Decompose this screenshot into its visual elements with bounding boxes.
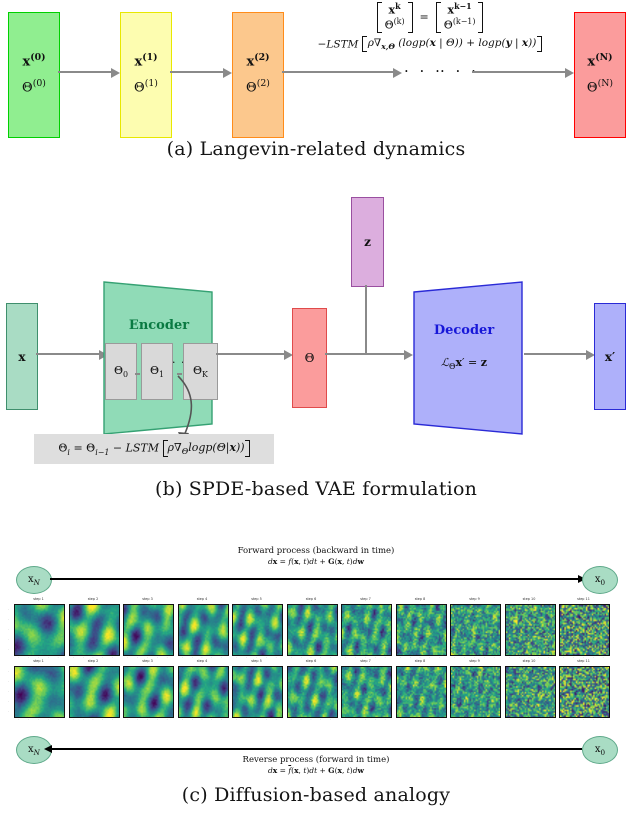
arrow-0-1-head xyxy=(111,68,120,78)
caption-panel-b: (b) SPDE-based VAE formulation xyxy=(0,478,632,500)
heatmap-x-ticks: ····· xyxy=(287,717,336,721)
vae-latent-z-box: z xyxy=(351,197,384,287)
forward-end-node: x0 xyxy=(582,566,618,594)
state-box-0: x(0) Θ(0) xyxy=(8,12,60,138)
arrow-input-encoder xyxy=(36,353,104,355)
heatmap-title: step 6 xyxy=(287,659,336,663)
heatmap-title: step 11 xyxy=(559,659,608,663)
arrow-theta0-theta1 xyxy=(135,373,140,375)
heatmap-title: step 3 xyxy=(123,659,172,663)
heatmap-x-ticks: ····· xyxy=(69,717,118,721)
vae-output-box: x′ xyxy=(594,303,626,410)
caption-panel-c: (c) Diffusion-based analogy xyxy=(0,784,632,806)
equation-matrix-line: xk Θ(k) = xk−1 Θ(k−1) xyxy=(290,2,570,33)
forward-process-labels: Forward process (backward in time) dx = … xyxy=(0,546,632,566)
heatmap-canvas xyxy=(396,666,447,718)
heatmap-title: step 2 xyxy=(69,597,118,601)
theta-cell-0-label: Θ0 xyxy=(114,364,128,379)
state-box-2-theta: Θ(2) xyxy=(246,75,270,101)
heatmap-cell: step 2····· xyxy=(69,666,118,716)
heatmap-cell: step 6····· xyxy=(287,604,336,654)
forward-start-node-label: xN xyxy=(28,574,40,587)
heatmap-cell: step 4····· xyxy=(178,666,227,716)
state-box-N-theta: Θ(N) xyxy=(587,75,613,101)
forward-process-equation: dx = f(x, t)dt + G(x, t)dw xyxy=(0,557,632,566)
heatmap-title: step 7 xyxy=(341,659,390,663)
heatmap-cell: step 4····· xyxy=(178,604,227,654)
caption-panel-a: (a) Langevin-related dynamics xyxy=(0,138,632,160)
arrow-2-mid-head xyxy=(393,68,402,78)
heatmap-cell: step 9····· xyxy=(450,666,499,716)
state-box-0-x: x(0) xyxy=(22,49,45,75)
state-box-1-x: x(1) xyxy=(134,49,157,75)
heatmap-canvas xyxy=(287,666,338,718)
heatmap-canvas xyxy=(232,666,283,718)
reverse-process-labels: Reverse process (forward in time) dx = f… xyxy=(0,755,632,775)
lstm-prefix: −LSTM xyxy=(318,38,359,50)
heatmap-title: step 4 xyxy=(178,597,227,601)
forward-process-arrow xyxy=(50,578,580,580)
heatmap-title: step 8 xyxy=(396,597,445,601)
heatmap-cell: step 5····· xyxy=(232,604,281,654)
heatmap-cell: step 8····· xyxy=(396,666,445,716)
heatmap-x-ticks: ····· xyxy=(396,717,445,721)
heatmap-title: step 10 xyxy=(505,597,554,601)
reverse-process-arrow xyxy=(52,748,582,750)
arrow-decoder-output xyxy=(524,353,590,355)
heatmap-cell: step 1·········· xyxy=(14,604,63,654)
decoder-sublabel: ℒΘx′ = z xyxy=(408,356,520,371)
state-box-2-x: x(2) xyxy=(246,49,269,75)
equals-sign: = xyxy=(416,10,432,23)
heatmap-x-ticks: ····· xyxy=(450,717,499,721)
arrow-mid-N-head xyxy=(565,68,574,78)
heatmap-cell: step 1·········· xyxy=(14,666,63,716)
heatmap-cell: step 11····· xyxy=(559,604,608,654)
heatmap-cell: step 7····· xyxy=(341,604,390,654)
heatmap-x-ticks: ····· xyxy=(123,717,172,721)
arrow-1-2-head xyxy=(223,68,232,78)
heatmap-title: step 9 xyxy=(450,659,499,663)
lhs-theta: Θ(k) xyxy=(382,17,408,32)
lhs-x: xk xyxy=(382,2,408,17)
heatmap-y-ticks: ····· xyxy=(8,666,9,716)
heatmap-canvas xyxy=(123,666,174,718)
lhs-matrix: xk Θ(k) xyxy=(377,2,413,33)
forward-process-title: Forward process (backward in time) xyxy=(0,546,632,556)
heatmap-cell: step 2····· xyxy=(69,604,118,654)
langevin-update-equation: xk Θ(k) = xk−1 Θ(k−1) −LSTM ρ∇x,Θ (logp(… xyxy=(290,2,570,51)
heatmap-canvas xyxy=(396,604,447,656)
arrow-mid-N xyxy=(472,71,568,73)
heatmap-canvas xyxy=(450,604,501,656)
heatmap-x-ticks: ····· xyxy=(14,717,63,721)
heatmap-cell: step 3····· xyxy=(123,666,172,716)
heatmap-x-ticks: ····· xyxy=(232,717,281,721)
heatmap-canvas xyxy=(505,666,556,718)
heatmap-title: step 7 xyxy=(341,597,390,601)
heatmap-cell: step 5····· xyxy=(232,666,281,716)
rhs-x: xk−1 xyxy=(441,2,479,17)
heatmap-x-ticks: ····· xyxy=(505,717,554,721)
vae-input-label: x xyxy=(18,350,25,364)
heatmap-cell: step 11····· xyxy=(559,666,608,716)
heatmap-cell: step 10····· xyxy=(505,604,554,654)
heatmap-canvas xyxy=(341,604,392,656)
state-box-1: x(1) Θ(1) xyxy=(120,12,172,138)
ellipsis-left: · · · xyxy=(404,62,443,80)
lstm-bracket: ρ∇x,Θ (logp(x | Θ)) + logp(y | x)) xyxy=(362,37,543,52)
heatmap-canvas xyxy=(69,666,120,718)
heatmap-title: step 4 xyxy=(178,659,227,663)
panel-vae-formulation: x Encoder Θ0 Θ1 · · · ΘK Θi = Θi−1 − LST… xyxy=(0,178,632,530)
heatmap-title: step 1 xyxy=(14,659,63,663)
arrow-encoder-theta xyxy=(216,353,288,355)
heatmap-x-ticks: ····· xyxy=(559,717,608,721)
heatmap-canvas xyxy=(232,604,283,656)
vae-latent-z-label: z xyxy=(364,235,371,249)
heatmap-title: step 6 xyxy=(287,597,336,601)
heatmap-canvas xyxy=(178,604,229,656)
heatmap-title: step 9 xyxy=(450,597,499,601)
theta-update-formula: Θi = Θi−1 − LSTM ρ∇Θlogp(Θ|x)) xyxy=(58,441,249,457)
heatmap-canvas xyxy=(450,666,501,718)
heatmap-cell: step 6····· xyxy=(287,666,336,716)
forward-end-node-label: x0 xyxy=(595,574,605,587)
heatmap-title: step 11 xyxy=(559,597,608,601)
heatmap-title: step 1 xyxy=(14,597,63,601)
heatmap-canvas xyxy=(69,604,120,656)
heatmap-cell: step 10····· xyxy=(505,666,554,716)
encoder-label: Encoder xyxy=(100,318,218,333)
heatmap-y-ticks: ····· xyxy=(8,604,9,654)
reverse-process-equation: dx = f(x, t)dt + G(x, t)dw xyxy=(0,766,632,775)
heatmap-cell: step 8····· xyxy=(396,604,445,654)
heatmap-canvas xyxy=(14,666,65,718)
heatmap-title: step 2 xyxy=(69,659,118,663)
state-box-N-x: x(N) xyxy=(587,49,612,75)
panel-langevin-dynamics: x(0) Θ(0) x(1) Θ(1) x(2) Θ(2) · · · · · … xyxy=(0,0,632,170)
state-box-N: x(N) Θ(N) xyxy=(574,12,626,138)
heatmap-cell: step 7····· xyxy=(341,666,390,716)
heatmap-title: step 3 xyxy=(123,597,172,601)
heatmap-title: step 10 xyxy=(505,659,554,663)
theta-cell-0: Θ0 xyxy=(105,343,137,400)
equation-lstm-line: −LSTM ρ∇x,Θ (logp(x | Θ)) + logp(y | x)) xyxy=(290,37,570,52)
theta-update-formula-box: Θi = Θi−1 − LSTM ρ∇Θlogp(Θ|x)) xyxy=(34,434,274,464)
arrow-0-1 xyxy=(58,71,114,73)
heatmap-canvas xyxy=(341,666,392,718)
vae-theta-box: Θ xyxy=(292,308,327,408)
reverse-process-title: Reverse process (forward in time) xyxy=(0,755,632,765)
heatmap-canvas xyxy=(123,604,174,656)
heatmap-x-ticks: ····· xyxy=(341,717,390,721)
reverse-process-arrowhead xyxy=(44,745,52,753)
heatmap-canvas xyxy=(287,604,338,656)
forward-start-node: xN xyxy=(16,566,52,594)
panel-diffusion-analogy: Forward process (backward in time) dx = … xyxy=(0,540,632,824)
arrow-2-mid xyxy=(282,71,396,73)
heatmap-title: step 5 xyxy=(232,659,281,663)
heatmap-cell: step 9····· xyxy=(450,604,499,654)
vae-output-label: x′ xyxy=(605,350,615,364)
heatmap-canvas xyxy=(505,604,556,656)
arrow-1-2 xyxy=(170,71,226,73)
heatmap-canvas xyxy=(178,666,229,718)
z-connector-line xyxy=(365,285,367,355)
decoder-label: Decoder xyxy=(408,323,520,338)
heatmap-canvas xyxy=(559,604,610,656)
heatmap-title: step 8 xyxy=(396,659,445,663)
heatmap-x-ticks: ····· xyxy=(178,717,227,721)
vae-theta-label: Θ xyxy=(305,351,315,365)
vae-input-box: x xyxy=(6,303,38,410)
rhs-theta: Θ(k−1) xyxy=(441,17,479,32)
heatmap-cell: step 3····· xyxy=(123,604,172,654)
state-box-1-theta: Θ(1) xyxy=(134,75,158,101)
lstm-body: ρ∇x,Θ (logp(x | Θ)) + logp(y | x)) xyxy=(368,37,537,49)
heatmap-title: step 5 xyxy=(232,597,281,601)
heatmap-canvas xyxy=(559,666,610,718)
state-box-0-theta: Θ(0) xyxy=(22,75,46,101)
heatmap-canvas xyxy=(14,604,65,656)
rhs-matrix: xk−1 Θ(k−1) xyxy=(436,2,484,33)
state-box-2: x(2) Θ(2) xyxy=(232,12,284,138)
